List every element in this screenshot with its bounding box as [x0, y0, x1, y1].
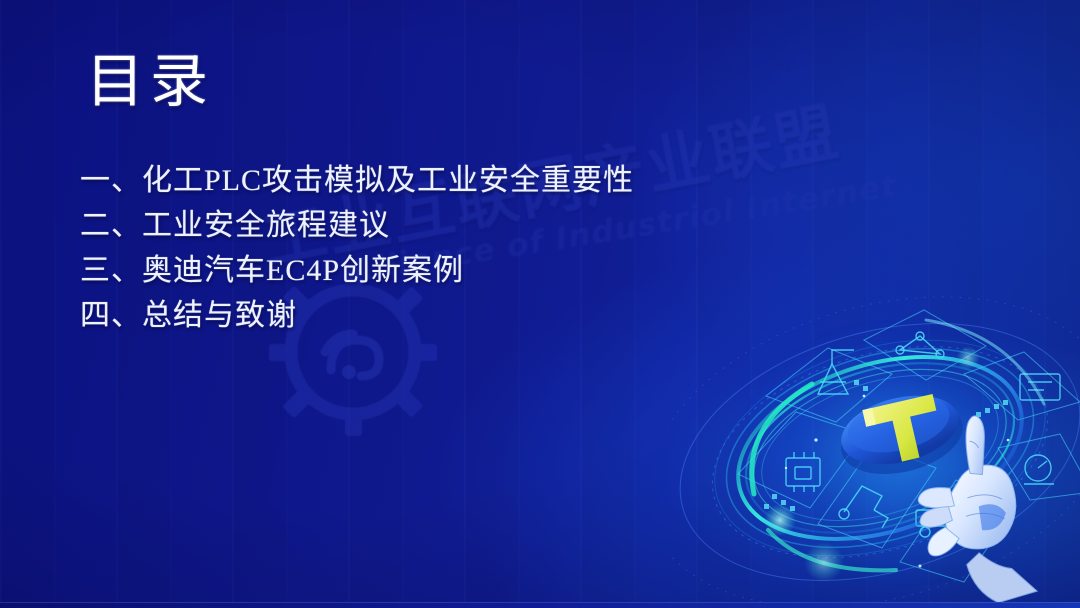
toc-item-3-label: 奥迪汽车EC4P创新案例: [142, 248, 464, 293]
toc-item-3[interactable]: 三、奥迪汽车EC4P创新案例: [80, 248, 780, 293]
toc-item-2[interactable]: 二、工业安全旅程建议: [80, 203, 780, 248]
toc-item-1-label: 化工PLC攻击模拟及工业安全重要性: [142, 158, 634, 203]
slide-bottom-bar: [0, 602, 1080, 608]
toc-item-1[interactable]: 一、化工PLC攻击模拟及工业安全重要性: [80, 158, 780, 203]
toc-item-1-number: 一、: [80, 158, 142, 203]
page-title: 目录: [86, 52, 214, 113]
toc-item-2-label: 工业安全旅程建议: [142, 203, 390, 248]
presentation-slide: 工业互联网产业联盟 Alliance of Industriol Interne…: [0, 0, 1080, 608]
toc-item-4[interactable]: 四、总结与致谢: [80, 293, 780, 338]
toc-item-4-label: 总结与致谢: [142, 293, 297, 338]
toc-item-4-number: 四、: [80, 293, 142, 338]
table-of-contents: 一、化工PLC攻击模拟及工业安全重要性 二、工业安全旅程建议 三、奥迪汽车EC4…: [80, 158, 780, 338]
toc-item-2-number: 二、: [80, 203, 142, 248]
toc-item-3-number: 三、: [80, 248, 142, 293]
